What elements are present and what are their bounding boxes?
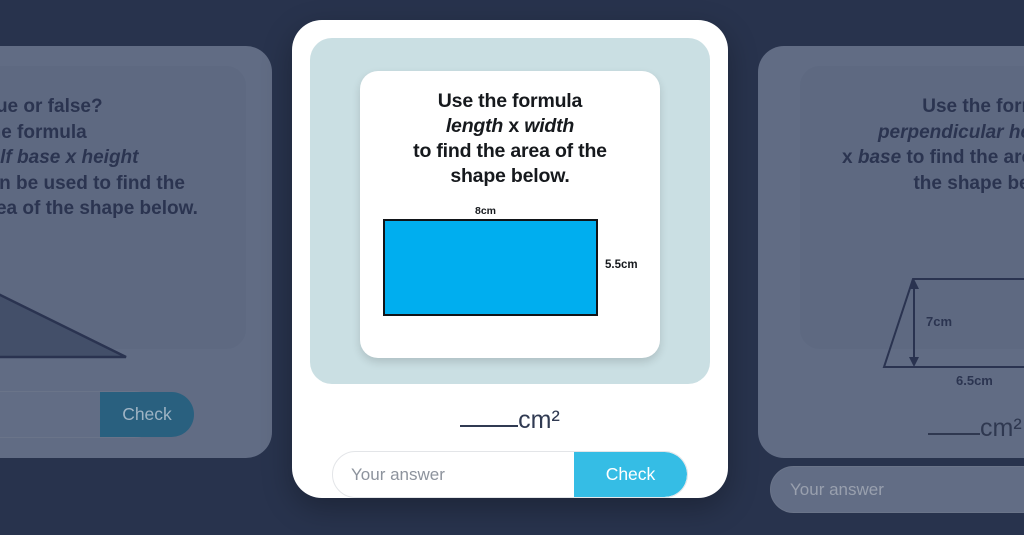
active-question-card: Use the formula length x width to find t… [292,20,728,498]
answer-unit-label: cm² [460,406,560,435]
right-question-line-4: the shape below. [913,173,1024,194]
left-question-line-1: True or false? [0,96,103,117]
right-question-line-2: perpendicular height [878,122,1024,143]
answer-unit: cm² [518,406,560,434]
left-question-line-2: The formula [0,122,87,143]
parallelogram-shape: 7cm 6.5cm [878,271,1024,386]
question-line-2-width: width [524,115,574,137]
right-card-answer-placeholder: Your answer [790,480,884,500]
figure-right-dimension-label: 5.5cm [605,259,638,271]
right-question-line-3-em: base [858,147,901,168]
right-figure-base-label: 6.5cm [956,373,993,386]
app-stage: True or false? The formula half base x h… [0,0,1024,535]
left-question-line-3: half base x height [0,147,138,168]
triangle-shape [0,281,129,361]
check-button[interactable]: Check [574,452,687,497]
right-question-line-3-prefix: x [842,147,858,168]
question-panel: Use the formula length x width to find t… [310,38,710,384]
next-question-card[interactable]: Use the formula perpendicular height x b… [758,46,1024,458]
left-question-line-5: area of the shape below. [0,198,198,219]
question-line-3: to find the area of the [413,140,607,162]
left-question-line-4: can be used to find the [0,173,185,194]
answer-blank [460,425,518,427]
question-line-1: Use the formula [438,90,582,112]
right-answer-unit: cm² [980,414,1022,442]
right-card-answer-unit-label: cm² [928,414,1022,443]
figure-top-dimension-label: 8cm [475,205,496,217]
right-card-panel: Use the formula perpendicular height x b… [800,66,1024,349]
left-card-check-button[interactable]: Check [100,392,194,437]
previous-question-card[interactable]: True or false? The formula half base x h… [0,46,272,458]
rectangle-figure: 8cm 5.5cm [360,205,660,325]
question-line-2-length: length [446,115,503,137]
answer-row: Check [332,451,688,498]
left-card-question-text: True or false? The formula half base x h… [0,94,198,222]
left-card-panel: True or false? The formula half base x h… [0,66,246,349]
right-card-question-text: Use the formula perpendicular height x b… [842,94,1024,196]
question-line-2-operator: x [503,115,524,137]
right-question-line-3-rest: to find the area of [901,147,1024,168]
question-content: Use the formula length x width to find t… [360,71,660,358]
answer-input[interactable] [333,452,574,497]
right-answer-blank [928,433,980,435]
right-figure-height-label: 7cm [926,314,952,329]
rectangle-shape [383,219,598,316]
question-text: Use the formula length x width to find t… [413,89,607,189]
right-question-line-1: Use the formula [922,96,1024,117]
question-line-4: shape below. [450,165,569,187]
